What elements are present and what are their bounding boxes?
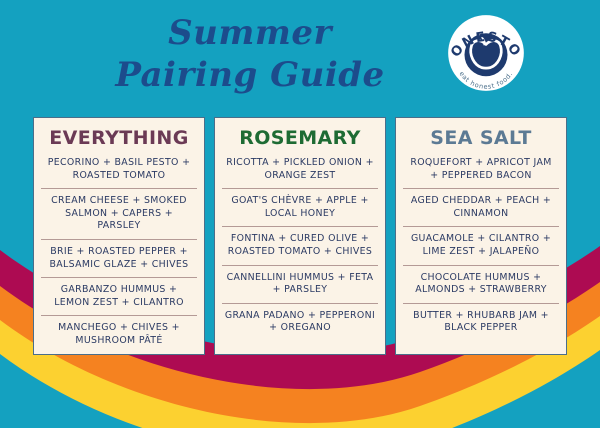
pairing-card-sea-salt: SEA SALT ROQUEFORT + APRICOT JAM + PEPPE… xyxy=(395,117,567,355)
pairing-item: AGED CHEDDAR + PEACH + CINNAMON xyxy=(403,188,559,226)
title-line-2: Pairing Guide xyxy=(60,54,440,96)
page-title: Summer Pairing Guide xyxy=(60,12,440,96)
card-heading-everything: EVERYTHING xyxy=(41,127,197,149)
pairing-guide-poster: Summer Pairing Guide ONESTO eat honest f… xyxy=(0,0,600,428)
pairing-item: CANNELLINI HUMMUS + FETA + PARSLEY xyxy=(222,265,378,303)
title-line-1: Summer xyxy=(60,12,440,54)
pairing-item: GARBANZO HUMMUS + LEMON ZEST + CILANTRO xyxy=(41,277,197,315)
pairing-item: BUTTER + RHUBARB JAM + BLACK PEPPER xyxy=(403,303,559,341)
pairing-item: BRIE + ROASTED PEPPER + BALSAMIC GLAZE +… xyxy=(41,239,197,277)
pairing-list-everything: PECORINO + BASIL PESTO + ROASTED TOMATO … xyxy=(41,154,197,354)
pairing-list-rosemary: RICOTTA + PICKLED ONION + ORANGE ZEST GO… xyxy=(222,154,378,350)
pairing-item: GRANA PADANO + PEPPERONI + OREGANO xyxy=(222,303,378,341)
pairing-card-rosemary: ROSEMARY RICOTTA + PICKLED ONION + ORANG… xyxy=(214,117,386,355)
pairing-item: ROQUEFORT + APRICOT JAM + PEPPERED BACON xyxy=(403,154,559,188)
card-heading-sea-salt: SEA SALT xyxy=(403,127,559,149)
wave-band-teal xyxy=(0,350,600,428)
pairing-cards-container: EVERYTHING PECORINO + BASIL PESTO + ROAS… xyxy=(33,117,567,355)
pairing-item: GOAT'S CHÈVRE + APPLE + LOCAL HONEY xyxy=(222,188,378,226)
poster-header: Summer Pairing Guide ONESTO eat honest f… xyxy=(0,0,600,112)
onesto-apple-logo: ONESTO eat honest food. xyxy=(443,10,529,96)
pairing-item: CHOCOLATE HUMMUS + ALMONDS + STRAWBERRY xyxy=(403,265,559,303)
pairing-item: PECORINO + BASIL PESTO + ROASTED TOMATO xyxy=(41,154,197,188)
pairing-card-everything: EVERYTHING PECORINO + BASIL PESTO + ROAS… xyxy=(33,117,205,355)
pairing-item: FONTINA + CURED OLIVE + ROASTED TOMATO +… xyxy=(222,226,378,264)
pairing-item: MANCHEGO + CHIVES + MUSHROOM PÂTÉ xyxy=(41,315,197,353)
pairing-item: GUACAMOLE + CILANTRO + LIME ZEST + JALAP… xyxy=(403,226,559,264)
card-heading-rosemary: ROSEMARY xyxy=(222,127,378,149)
pairing-item: CREAM CHEESE + SMOKED SALMON + CAPERS + … xyxy=(41,188,197,239)
pairing-list-sea-salt: ROQUEFORT + APRICOT JAM + PEPPERED BACON… xyxy=(403,154,559,350)
pairing-item: RICOTTA + PICKLED ONION + ORANGE ZEST xyxy=(222,154,378,188)
